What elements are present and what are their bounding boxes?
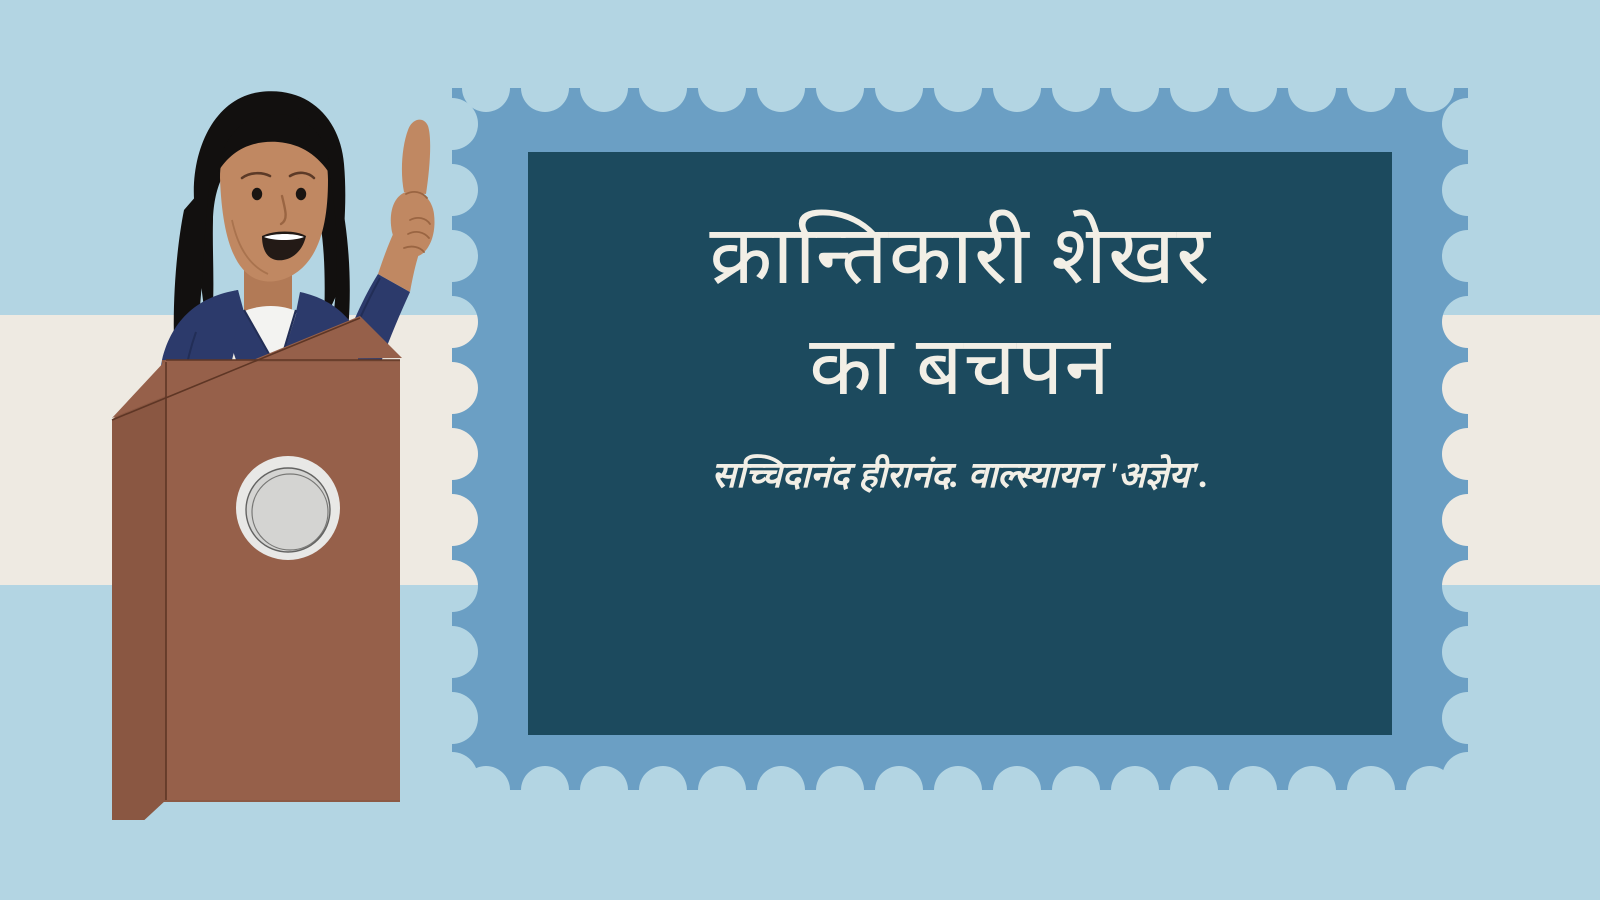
face-icon [218, 114, 330, 282]
title-line-2: का बचपन [809, 315, 1111, 420]
podium-seal-icon [236, 456, 340, 560]
title-line-1: क्रान्तिकारी शेखर [709, 204, 1210, 309]
author-subtitle: सच्चिदानंद हीरानंद. वाल्स्यायन 'अज्ञेय'. [712, 454, 1209, 497]
stamp-inner-panel: क्रान्तिकारी शेखर का बचपन सच्चिदानंद हीर… [528, 152, 1392, 735]
woman-at-podium-illustration [92, 60, 452, 820]
podium-icon [112, 316, 402, 820]
slide-canvas: क्रान्तिकारी शेखर का बचपन सच्चिदानंद हीर… [0, 0, 1600, 900]
